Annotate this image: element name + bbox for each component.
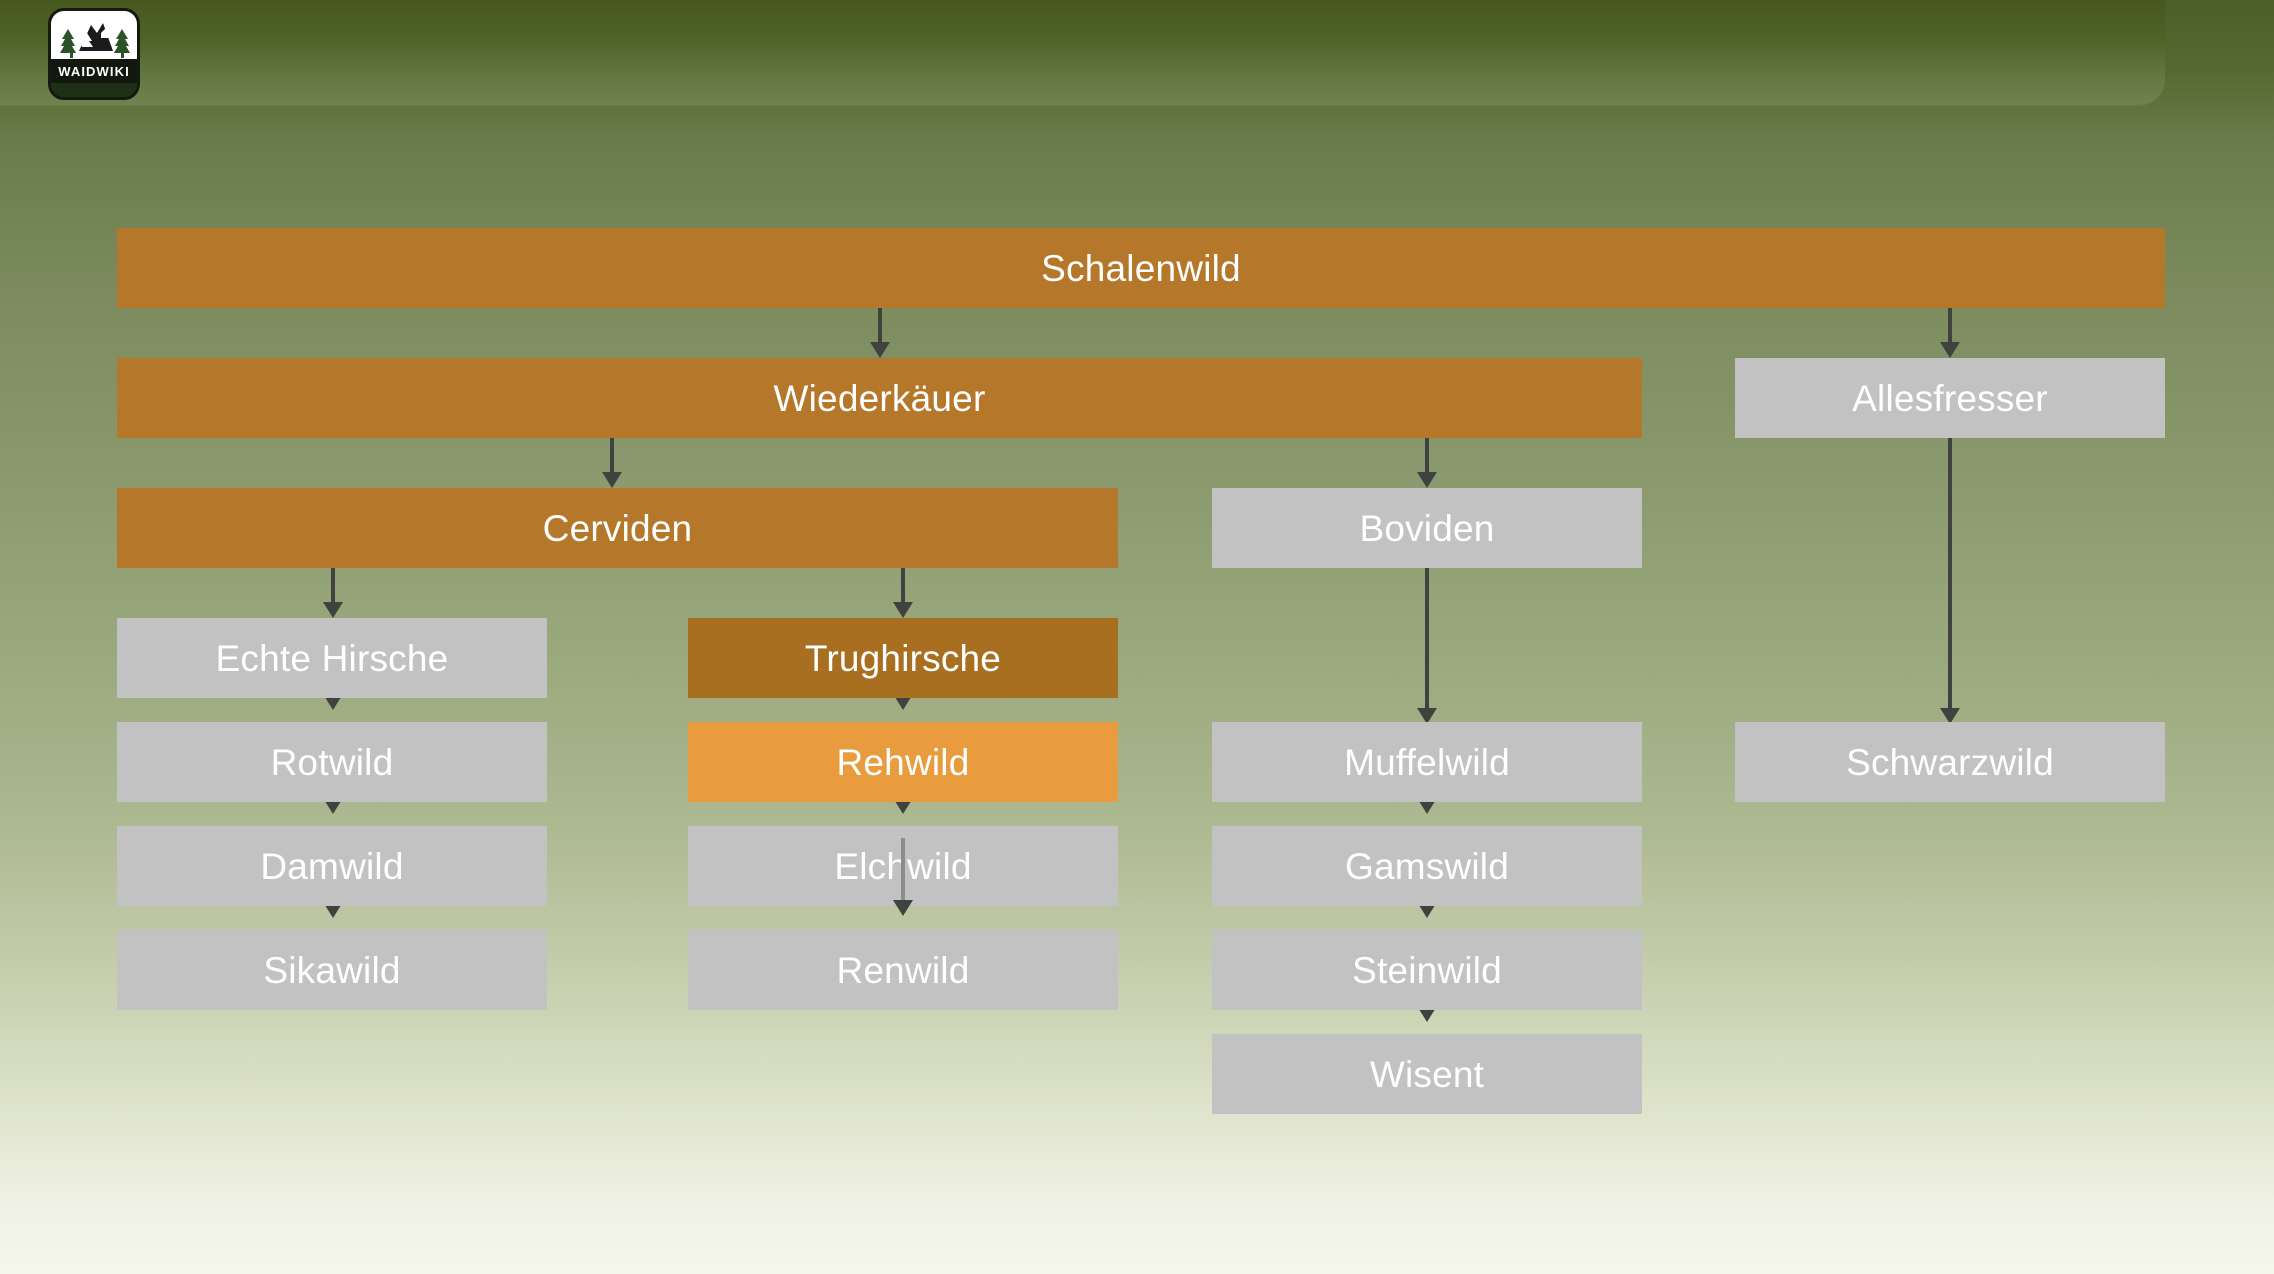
node-label: Sikawild <box>263 952 400 989</box>
node-label: Echte Hirsche <box>216 640 449 677</box>
node-label: Damwild <box>260 848 403 885</box>
node-label: Schwarzwild <box>1846 744 2054 781</box>
waidwiki-logo[interactable]: WAIDWIKI <box>48 8 140 100</box>
site-header: WAIDWIKI <box>0 0 2165 105</box>
node-steinwild[interactable]: Steinwild <box>1212 930 1642 1010</box>
node-label: Renwild <box>836 952 969 989</box>
node-label: Allesfresser <box>1852 380 2048 417</box>
node-wiederkaeuer[interactable]: Wiederkäuer <box>117 358 1642 438</box>
node-label: Boviden <box>1359 510 1494 547</box>
node-gamswild[interactable]: Gamswild <box>1212 826 1642 906</box>
logo-wordmark-text: WAIDWIKI <box>58 65 130 78</box>
node-muffelwild[interactable]: Muffelwild <box>1212 722 1642 802</box>
node-rehwild[interactable]: Rehwild <box>688 722 1118 802</box>
node-label: Rotwild <box>271 744 394 781</box>
node-echte-hirsche[interactable]: Echte Hirsche <box>117 618 547 698</box>
node-label: Gamswild <box>1345 848 1509 885</box>
logo-wordmark: WAIDWIKI <box>51 59 137 83</box>
node-schalenwild[interactable]: Schalenwild <box>117 228 2165 308</box>
node-renwild[interactable]: Renwild <box>688 930 1118 1010</box>
node-label: Rehwild <box>836 744 969 781</box>
node-label: Wiederkäuer <box>774 380 986 417</box>
mountains-and-trees-icon <box>51 11 137 59</box>
logo-footer-band <box>51 83 137 97</box>
node-label: Steinwild <box>1352 952 1502 989</box>
node-trughirsche[interactable]: Trughirsche <box>688 618 1118 698</box>
node-label: Schalenwild <box>1041 250 1241 287</box>
node-rotwild[interactable]: Rotwild <box>117 722 547 802</box>
node-cerviden[interactable]: Cerviden <box>117 488 1118 568</box>
node-boviden[interactable]: Boviden <box>1212 488 1642 568</box>
node-sikawild[interactable]: Sikawild <box>117 930 547 1010</box>
node-wisent[interactable]: Wisent <box>1212 1034 1642 1114</box>
node-schwarzwild[interactable]: Schwarzwild <box>1735 722 2165 802</box>
node-label: Trughirsche <box>805 640 1001 677</box>
node-damwild[interactable]: Damwild <box>117 826 547 906</box>
node-label: Muffelwild <box>1344 744 1510 781</box>
node-label: Wisent <box>1370 1056 1484 1093</box>
node-label: Cerviden <box>543 510 693 547</box>
node-allesfresser[interactable]: Allesfresser <box>1735 358 2165 438</box>
